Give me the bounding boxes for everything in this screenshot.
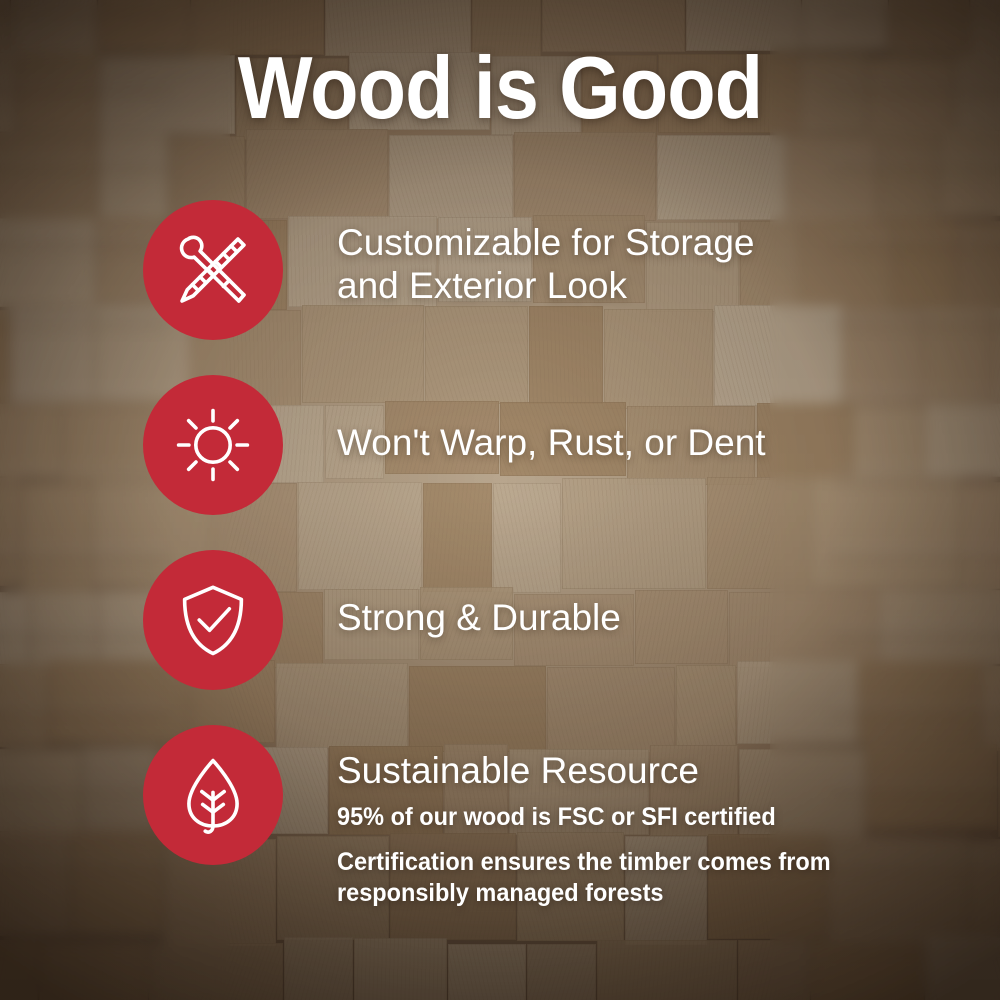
sun-icon-badge xyxy=(143,375,283,515)
feature-subtext-certification-line2: responsibly managed forests xyxy=(337,878,923,909)
ruler-pencil-icon-badge xyxy=(143,200,283,340)
feature-title-line2: and Exterior Look xyxy=(337,265,960,308)
feature-title-line1: Customizable for Storage xyxy=(337,222,960,265)
leaf-icon-badge xyxy=(143,725,283,865)
shield-check-icon xyxy=(170,577,256,663)
sun-icon xyxy=(170,402,256,488)
feature-text-no-warp: Won't Warp, Rust, or Dent xyxy=(337,422,960,465)
shield-check-icon-badge xyxy=(143,550,283,690)
feature-title-line1: Won't Warp, Rust, or Dent xyxy=(337,422,960,465)
feature-text-strong: Strong & Durable xyxy=(337,597,960,640)
feature-subtext-certification-line1: Certification ensures the timber comes f… xyxy=(337,847,923,878)
feature-title-line1: Sustainable Resource xyxy=(337,750,960,793)
ruler-pencil-icon xyxy=(170,227,256,313)
feature-text-sustainable: Sustainable Resource 95% of our wood is … xyxy=(337,750,960,909)
page-title: Wood is Good xyxy=(50,44,950,132)
feature-subtext-certified: 95% of our wood is FSC or SFI certified xyxy=(337,802,923,832)
feature-text-customizable: Customizable for Storage and Exterior Lo… xyxy=(337,222,960,308)
feature-title-line1: Strong & Durable xyxy=(337,597,960,640)
leaf-icon xyxy=(170,752,256,838)
